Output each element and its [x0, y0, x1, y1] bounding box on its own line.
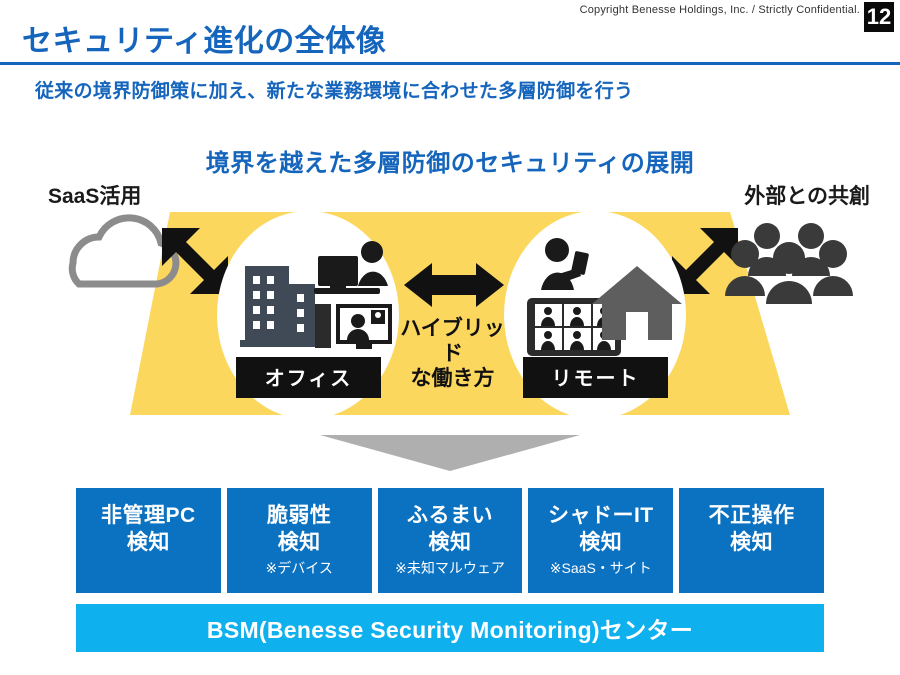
detection-title-line2: 検知 [428, 529, 471, 556]
video-call-monitor-icon [315, 304, 392, 349]
detection-title-line2: 検知 [579, 529, 622, 556]
office-pill-label: オフィス [236, 357, 381, 398]
lead-text: 従来の境界防御策に加え、新たな業務環境に合わせた多層防御を行う [35, 76, 633, 103]
detection-note: ※SaaS・サイト [550, 559, 652, 579]
remote-pill-label: リモート [523, 357, 668, 398]
detection-box[interactable]: ふるまい 検知 ※未知マルウェア [378, 488, 523, 593]
page-title: セキュリティ進化の全体像 [22, 16, 386, 60]
detection-title-line1: シャドーIT [548, 502, 654, 529]
hybrid-label-line1: ハイブリッド [390, 317, 515, 367]
detection-title-line1: 脆弱性 [267, 502, 332, 529]
detection-title-line1: 非管理PC [101, 502, 196, 529]
hybrid-work-label: ハイブリッド な働き方 [390, 317, 515, 391]
detection-boxes-row: 非管理PC 検知 脆弱性 検知 ※デバイス ふるまい 検知 ※未知マルウェア シ… [76, 488, 824, 593]
detection-box[interactable]: 不正操作 検知 [679, 488, 824, 593]
bsm-center-bar[interactable]: BSM(Benesse Security Monitoring)センター [76, 604, 824, 652]
detection-title-line2: 検知 [278, 529, 321, 556]
hybrid-label-line2: な働き方 [390, 367, 515, 392]
detection-note: ※未知マルウェア [395, 559, 505, 579]
people-group-icon [725, 223, 853, 304]
copyright-notice: Copyright Benesse Holdings, Inc. / Stric… [580, 4, 860, 16]
title-divider [0, 62, 900, 65]
down-arrow-connector [0, 430, 900, 480]
diagram-heading: 境界を越えた多層防御のセキュリティの展開 [0, 143, 900, 178]
detection-title-line2: 検知 [730, 529, 773, 556]
page-number-badge: 12 [864, 2, 894, 32]
detection-box[interactable]: 非管理PC 検知 [76, 488, 221, 593]
detection-note: ※デバイス [266, 559, 333, 579]
detection-box[interactable]: シャドーIT 検知 ※SaaS・サイト [528, 488, 673, 593]
detection-title-line2: 検知 [127, 529, 170, 556]
detection-title-line1: ふるまい [407, 502, 493, 529]
detection-title-line1: 不正操作 [709, 502, 795, 529]
detection-box[interactable]: 脆弱性 検知 ※デバイス [227, 488, 372, 593]
